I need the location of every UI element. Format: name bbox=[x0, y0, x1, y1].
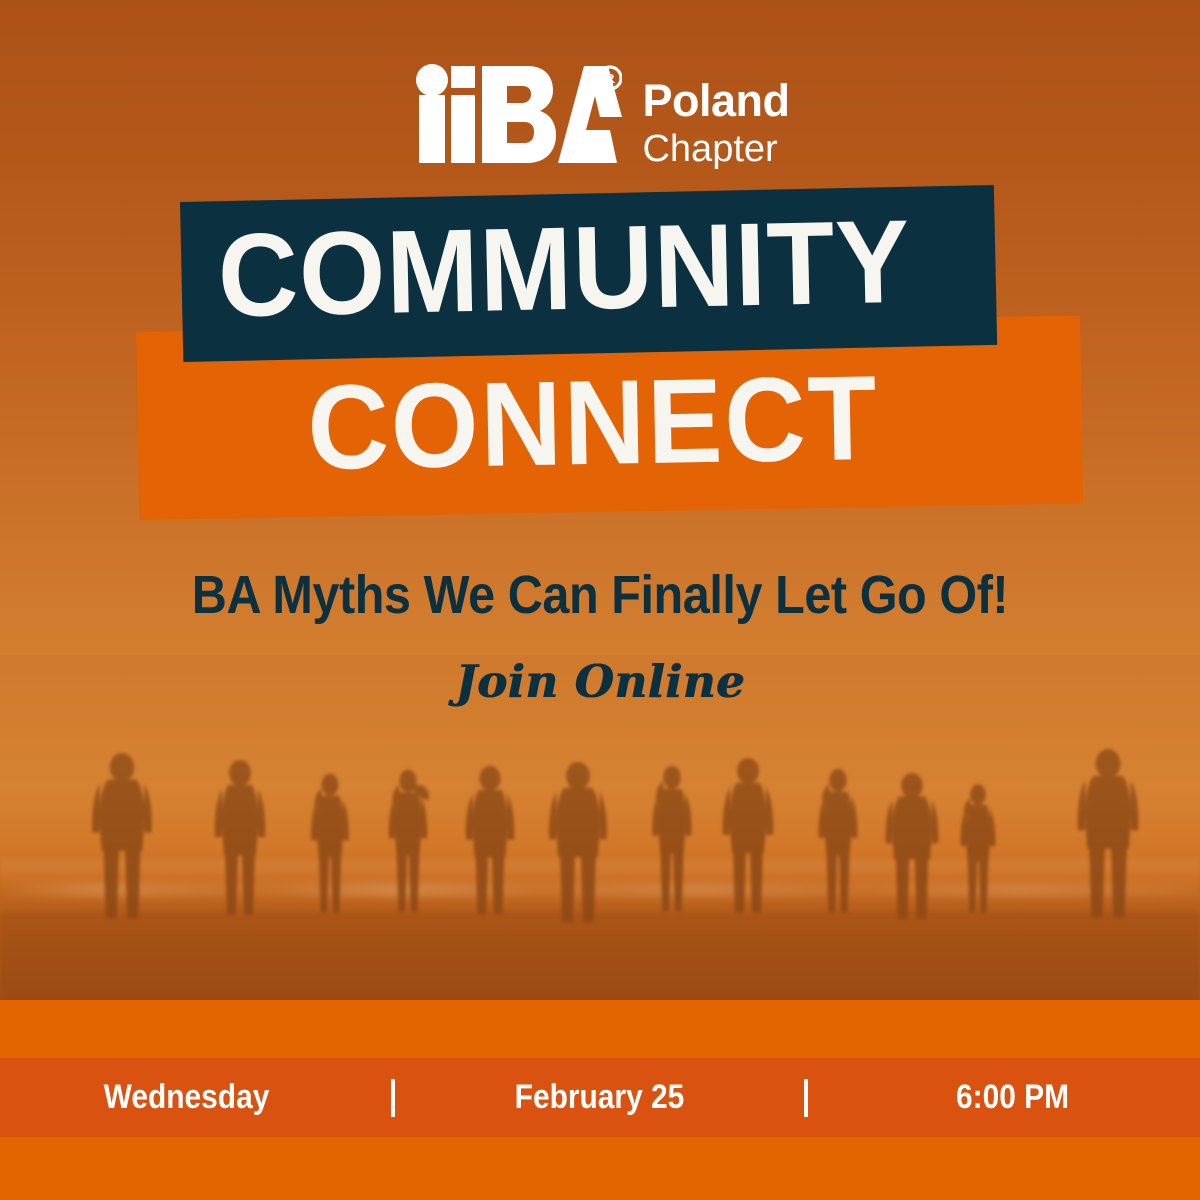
footer-separator-1 bbox=[373, 1079, 413, 1117]
event-time: 6:00 PM bbox=[848, 1078, 1176, 1117]
event-date: February 25 bbox=[435, 1078, 763, 1117]
footer-separator-2 bbox=[786, 1079, 826, 1117]
brand-logo: R Poland Chapter bbox=[0, 62, 1200, 172]
iiba-logo-icon: R bbox=[410, 62, 622, 167]
event-poster: R Poland Chapter COMMUNITY CONNECT BA My… bbox=[0, 0, 1200, 1200]
chapter-country: Poland bbox=[642, 75, 789, 127]
chapter-label: Chapter bbox=[642, 127, 789, 172]
event-day: Wednesday bbox=[22, 1078, 350, 1117]
event-subtitle: BA Myths We Can Finally Let Go Of! bbox=[60, 564, 1140, 626]
headline-line-2: CONNECT bbox=[300, 328, 886, 518]
footer-details: Wednesday February 25 6:00 PM bbox=[0, 1058, 1200, 1137]
chapter-name: Poland Chapter bbox=[642, 62, 789, 172]
svg-text:R: R bbox=[605, 72, 616, 87]
join-online-script: Join Online bbox=[0, 655, 1200, 708]
